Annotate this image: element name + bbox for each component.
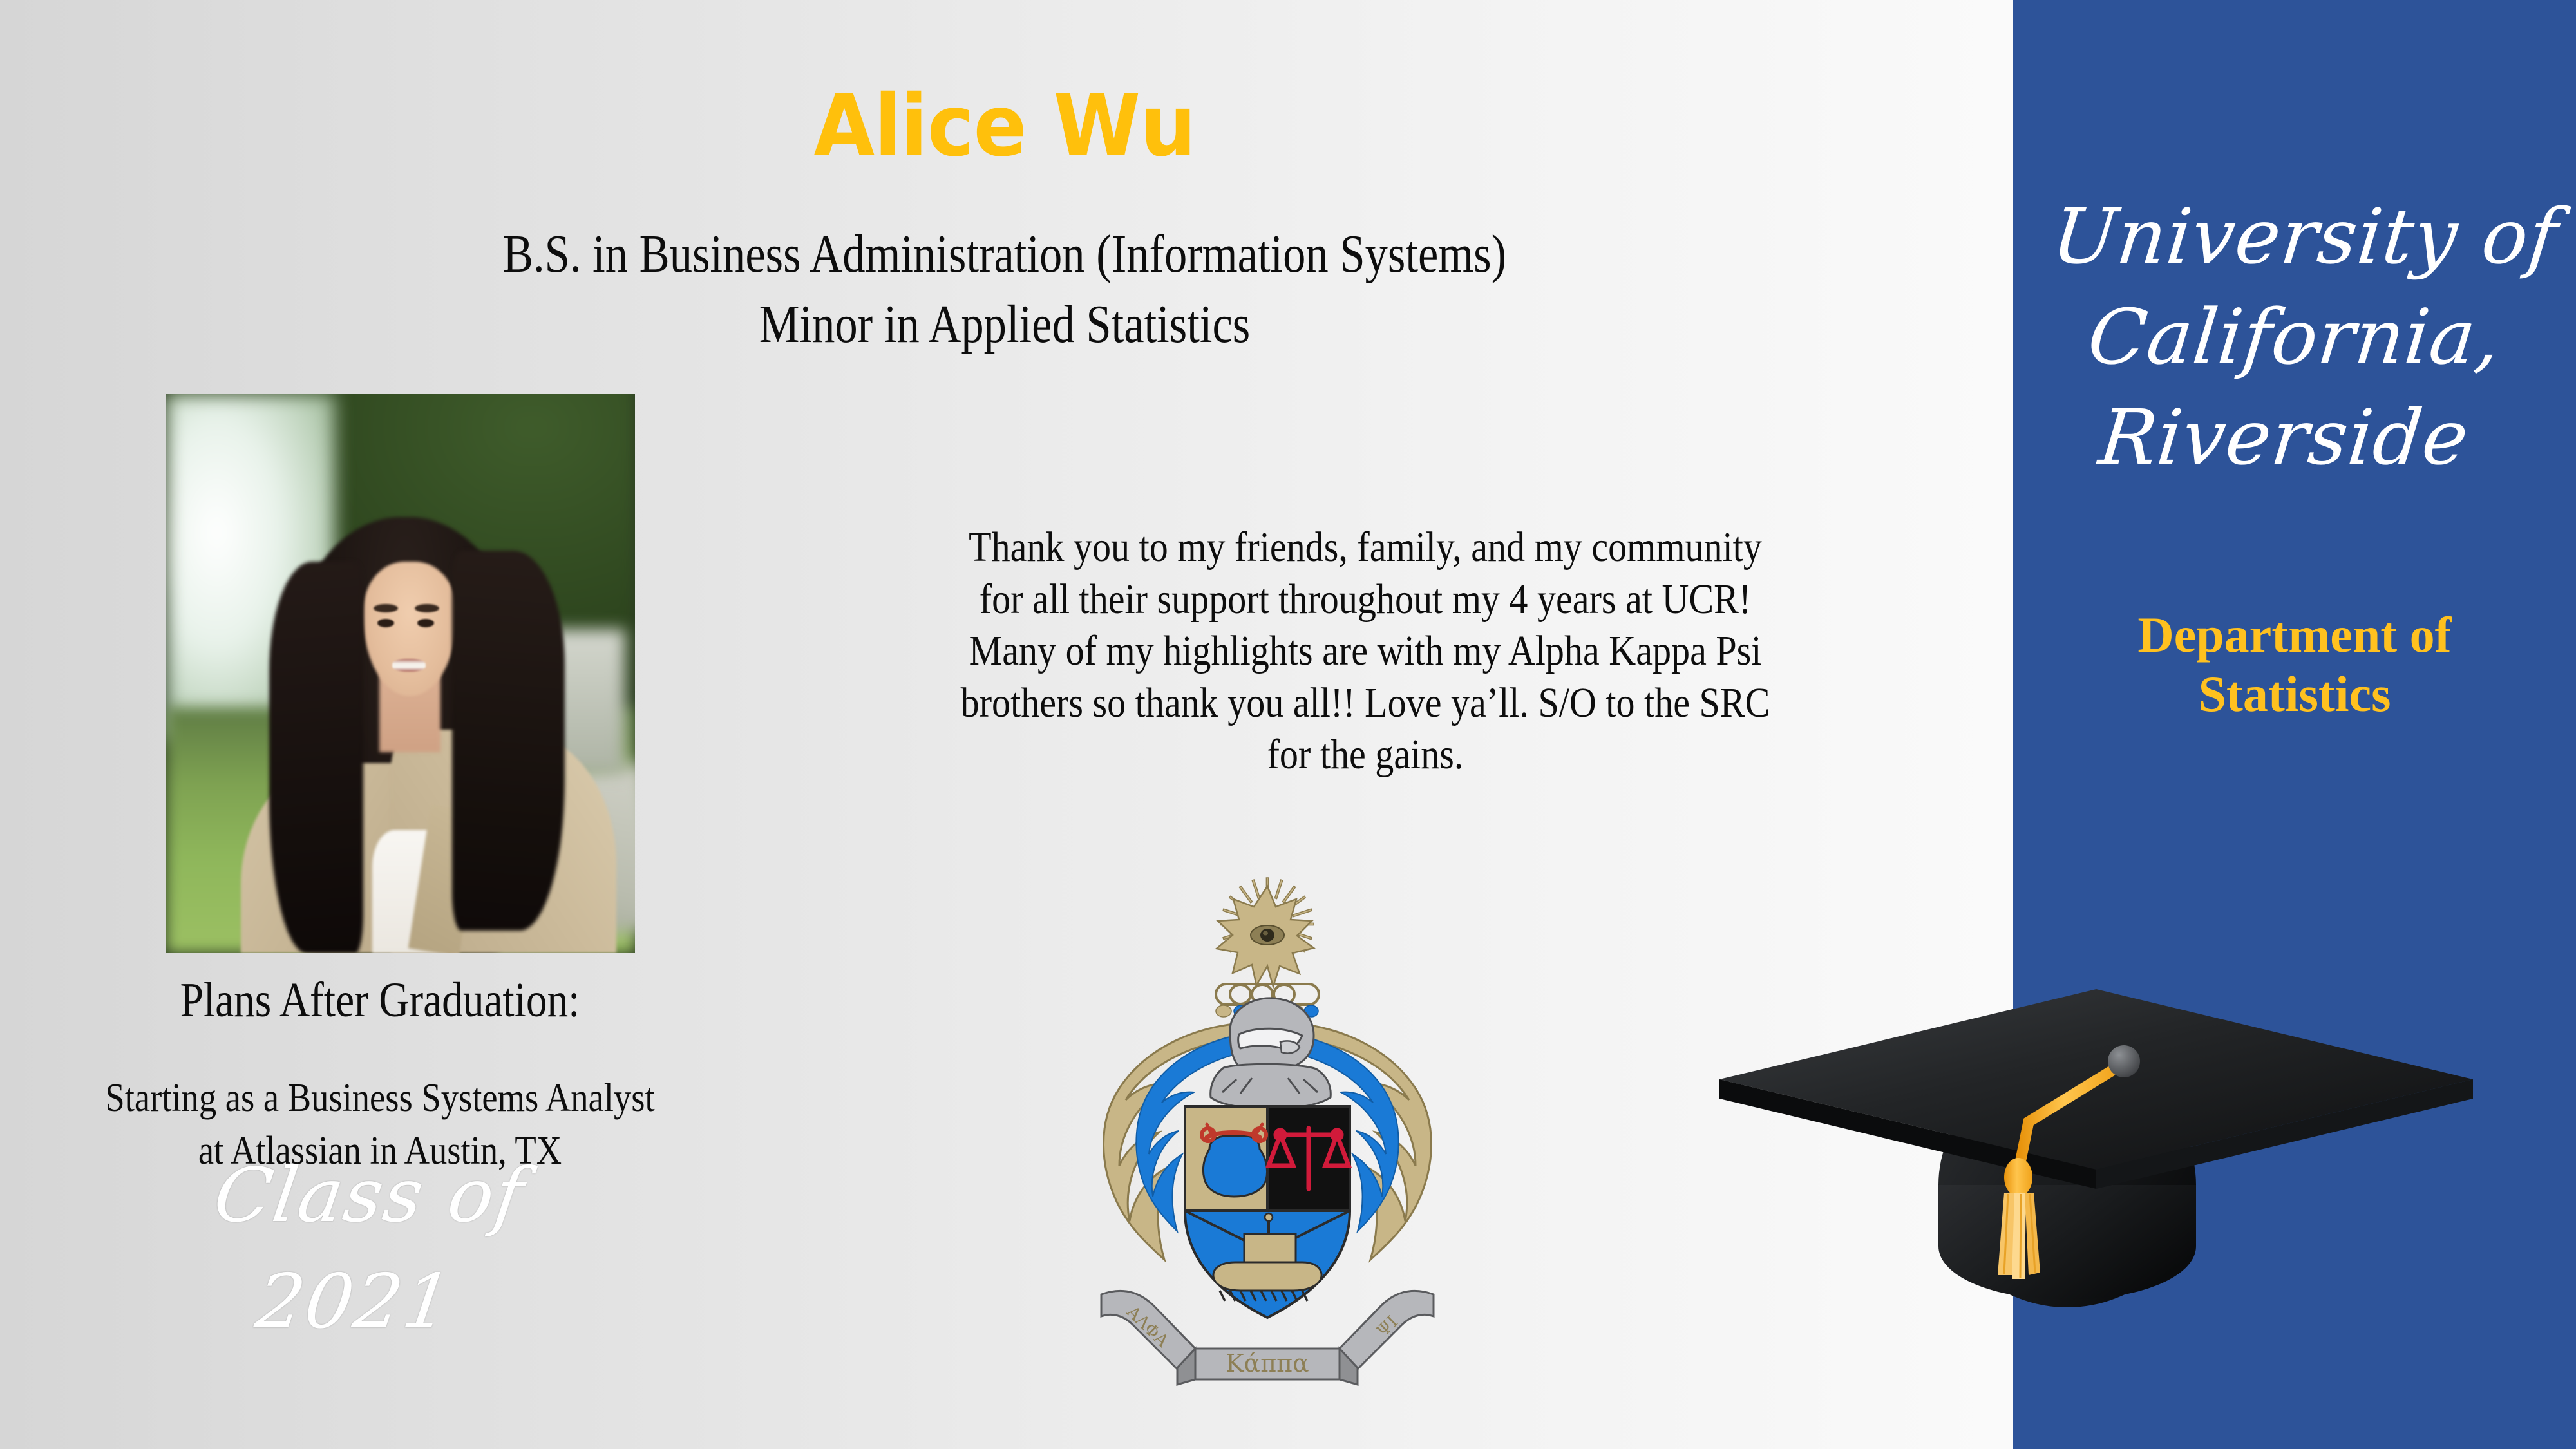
photo-eyebrow-left bbox=[374, 604, 398, 612]
class-line-1: Class of bbox=[161, 1143, 578, 1249]
degree-info: B.S. in Business Administration (Informa… bbox=[355, 219, 1654, 359]
department-name: Department of Statistics bbox=[2013, 605, 2576, 724]
graduate-photo bbox=[166, 394, 635, 953]
graduation-cap-icon bbox=[1707, 953, 2486, 1365]
university-line-3: Riverside bbox=[1997, 388, 2570, 488]
photo-hair-left bbox=[269, 562, 363, 953]
plans-heading: Plans After Graduation: bbox=[86, 974, 674, 1028]
degree-minor: Minor in Applied Statistics bbox=[355, 289, 1654, 359]
class-year: Class of 2021 bbox=[146, 1143, 578, 1355]
cap-crown-side bbox=[1938, 1185, 2196, 1300]
department-line-2: Statistics bbox=[2013, 665, 2576, 724]
university-line-2: California, bbox=[2008, 287, 2576, 388]
photo-eyebrow-right bbox=[415, 604, 439, 612]
degree-major: B.S. in Business Administration (Informa… bbox=[355, 219, 1654, 289]
cap-button bbox=[2108, 1045, 2140, 1077]
tassel-knot bbox=[2004, 1158, 2032, 1197]
crest-shield bbox=[1185, 1106, 1350, 1318]
department-line-1: Department of bbox=[2013, 605, 2576, 665]
graduate-name: Alice Wu bbox=[489, 84, 1520, 169]
fraternity-crest-icon: Κάππα ΑΛΦΑ ΨΙ bbox=[1087, 876, 1448, 1391]
crest-banner-text: Κάππα bbox=[1226, 1349, 1309, 1378]
photo-smile bbox=[392, 659, 426, 671]
photo-hair-right bbox=[452, 551, 565, 931]
crest-money-bag bbox=[1202, 1124, 1267, 1197]
tassel-strands bbox=[1998, 1193, 2040, 1279]
university-line-1: University of bbox=[2018, 187, 2576, 287]
thank-you-message: Thank you to my friends, family, and my … bbox=[946, 522, 1785, 781]
university-name: University of California, Riverside bbox=[1997, 187, 2576, 488]
graduation-slide: University of California, Riverside Depa… bbox=[0, 0, 2576, 1449]
class-line-2: 2021 bbox=[146, 1249, 563, 1356]
photo-eye-left bbox=[377, 619, 394, 627]
